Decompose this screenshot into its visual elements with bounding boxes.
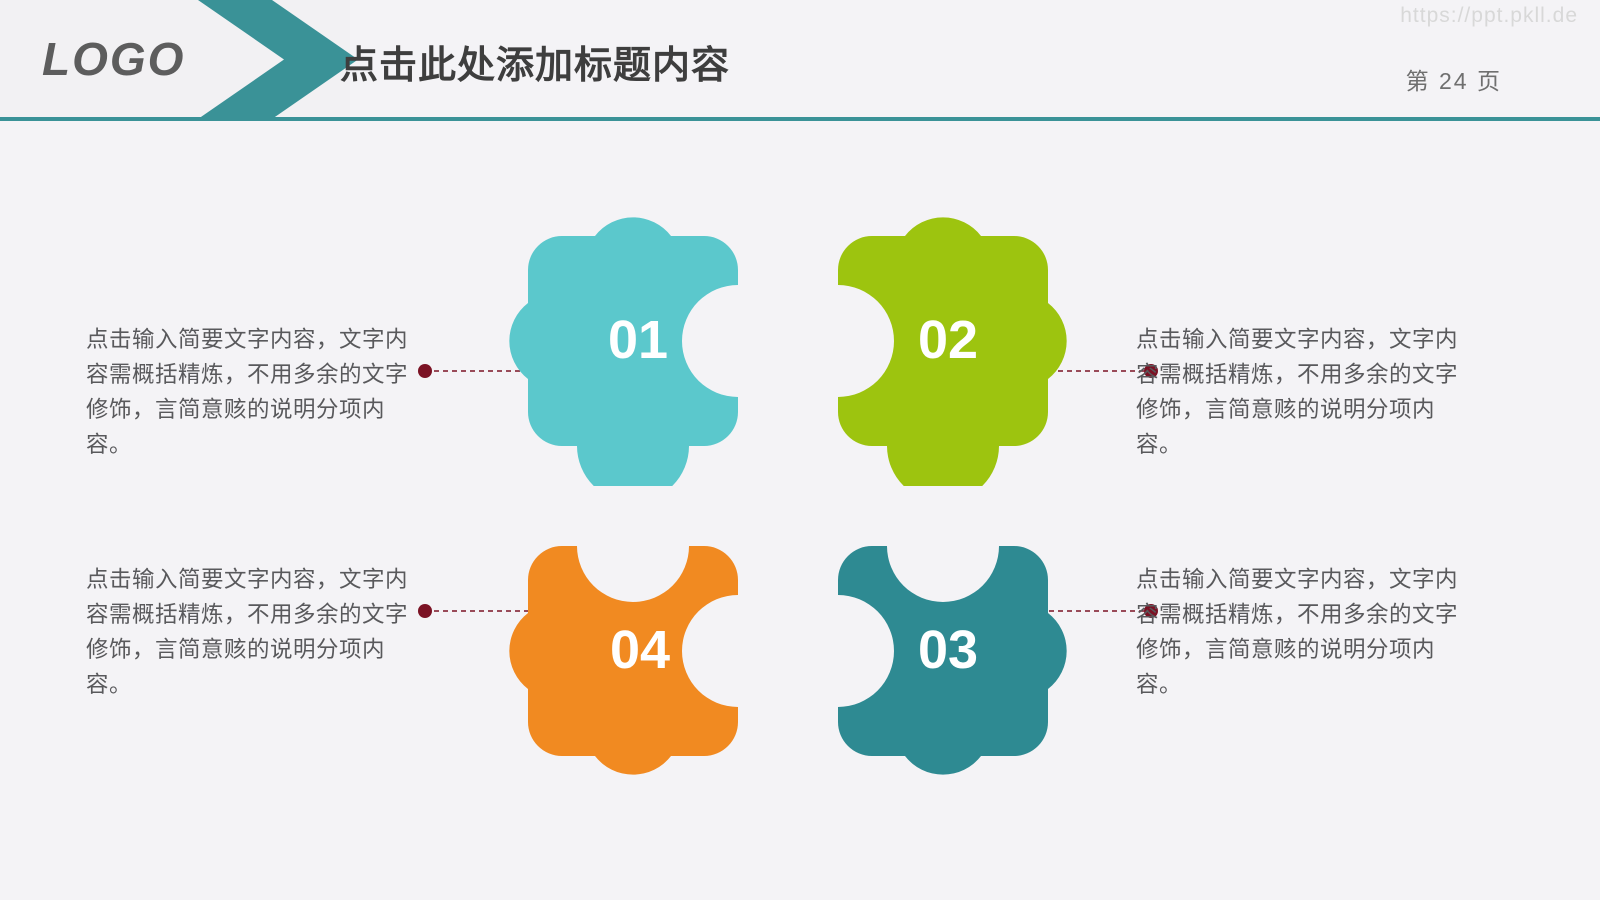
puzzle-tile-03-number: 03 [918, 620, 978, 680]
puzzle-tile-04-number: 04 [610, 620, 670, 680]
puzzle-diagram: 01 02 04 03 [488, 196, 1088, 796]
puzzle-tile-01[interactable]: 01 [488, 196, 778, 486]
watermark-url: https://ppt.pkll.de [1400, 4, 1578, 28]
chevron-arrow-icon [198, 0, 358, 119]
description-text-04: 点击输入简要文字内容，文字内容需概括精炼，不用多余的文字修饰，言简意赅的说明分项… [86, 562, 426, 702]
logo-wordmark[interactable]: LOGO [42, 30, 185, 88]
puzzle-tile-02-number: 02 [918, 310, 978, 370]
puzzle-tile-03[interactable]: 03 [798, 506, 1088, 796]
page-number-label: 第 24 页 [1406, 62, 1502, 96]
puzzle-tile-02[interactable]: 02 [798, 196, 1088, 486]
page-title: 点击此处添加标题内容 [340, 34, 730, 89]
puzzle-tile-01-number: 01 [608, 310, 668, 370]
description-text-01: 点击输入简要文字内容，文字内容需概括精炼，不用多余的文字修饰，言简意赅的说明分项… [86, 322, 426, 462]
description-text-03: 点击输入简要文字内容，文字内容需概括精炼，不用多余的文字修饰，言简意赅的说明分项… [1136, 562, 1476, 702]
slide-header: LOGO 点击此处添加标题内容 https://ppt.pkll.de 第 24… [0, 0, 1600, 122]
puzzle-tile-04[interactable]: 04 [488, 506, 778, 796]
slide-canvas: LOGO 点击此处添加标题内容 https://ppt.pkll.de 第 24… [0, 0, 1600, 900]
header-divider [0, 117, 1600, 121]
description-text-02: 点击输入简要文字内容，文字内容需概括精炼，不用多余的文字修饰，言简意赅的说明分项… [1136, 322, 1476, 462]
